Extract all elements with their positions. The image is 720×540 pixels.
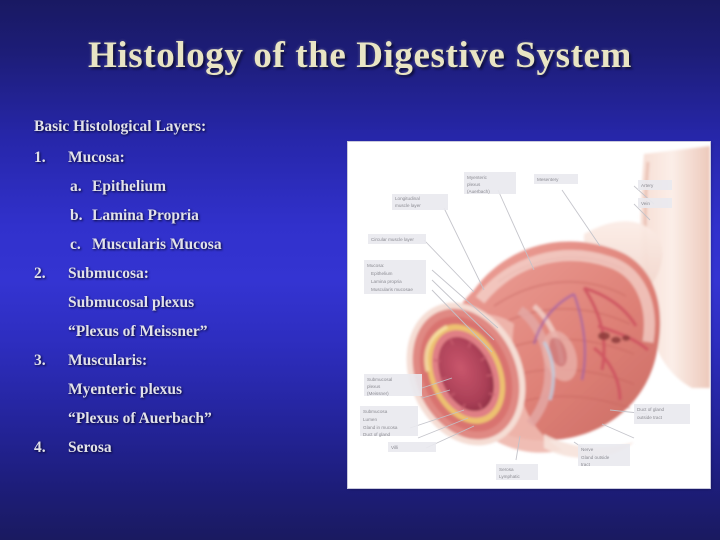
svg-text:Mucosa:: Mucosa:: [367, 263, 384, 268]
list-item: a. Epithelium: [34, 178, 334, 207]
svg-text:(Auerbach): (Auerbach): [467, 189, 490, 194]
svg-text:(Meissner): (Meissner): [367, 391, 389, 396]
list-item-label: Mucosa:: [68, 149, 125, 167]
list-item: Myenteric plexus: [34, 381, 334, 410]
figure-label: Vein: [638, 198, 672, 208]
figure-label: Duct of gland outside tract: [634, 404, 690, 424]
list-item: b. Lamina Propria: [34, 207, 334, 236]
figure-label: Mucosa: Epithelium Lamina propria Muscul…: [364, 260, 426, 294]
svg-text:Duct of gland: Duct of gland: [637, 407, 665, 412]
list-item-label: Submucosa:: [68, 265, 149, 283]
figure-label: Submucosal plexus (Meissner): [364, 374, 422, 396]
svg-text:Artery: Artery: [641, 183, 654, 188]
list-item: 3. Muscularis:: [34, 352, 334, 381]
page-title: Histology of the Digestive System: [0, 34, 720, 77]
list-heading-label: Basic Histological Layers:: [34, 118, 206, 136]
svg-text:Gland in mucosa: Gland in mucosa: [363, 425, 398, 430]
svg-text:Lumen: Lumen: [363, 417, 377, 422]
figure-label: Myenteric plexus (Auerbach): [464, 172, 516, 194]
svg-text:Lymphatic: Lymphatic: [499, 474, 520, 479]
svg-text:Submucosa: Submucosa: [363, 409, 388, 414]
figure-label: Mesentery: [534, 174, 578, 184]
figure-label: Circular muscle layer: [368, 234, 426, 244]
list-item: 2. Submucosa:: [34, 265, 334, 294]
list-item-label: Lamina Propria: [92, 207, 199, 225]
figure-label: Artery: [638, 180, 672, 190]
list-item-label: Submucosal plexus: [68, 294, 194, 312]
figure-label: Submucosa Lumen Gland in mucosa Duct of …: [360, 406, 418, 437]
list-item-label: Muscularis:: [68, 352, 147, 370]
svg-text:Serosa: Serosa: [499, 467, 514, 472]
svg-text:plexus: plexus: [467, 182, 481, 187]
figure-panel: Longitudinal muscle layer Myenteric plex…: [348, 142, 710, 488]
content-list: Basic Histological Layers: 1. Mucosa: a.…: [34, 118, 334, 468]
svg-text:Nerve: Nerve: [581, 447, 594, 452]
gi-tract-wall-illustration: Longitudinal muscle layer Myenteric plex…: [348, 142, 710, 488]
list-item: c. Muscularis Mucosa: [34, 236, 334, 265]
svg-text:Vein: Vein: [641, 201, 650, 206]
svg-text:Circular muscle layer: Circular muscle layer: [371, 237, 414, 242]
svg-text:Longitudinal: Longitudinal: [395, 196, 420, 201]
list-item-marker: 1.: [34, 149, 68, 167]
list-item-marker: b.: [70, 207, 92, 225]
svg-text:muscle layer: muscle layer: [395, 203, 421, 208]
list-item-label: Serosa: [68, 439, 112, 457]
svg-text:Epithelium: Epithelium: [371, 271, 393, 276]
list-item-label: Epithelium: [92, 178, 166, 196]
list-item-label: “Plexus of Auerbach”: [68, 410, 212, 428]
svg-text:Submucosal: Submucosal: [367, 377, 392, 382]
list-item: 1. Mucosa:: [34, 149, 334, 178]
list-item-marker: c.: [70, 236, 92, 254]
svg-text:Duct of gland: Duct of gland: [363, 432, 391, 437]
svg-text:Mesentery: Mesentery: [537, 177, 559, 182]
svg-text:Muscularis mucosae: Muscularis mucosae: [371, 287, 413, 292]
list-item-label: Muscularis Mucosa: [92, 236, 222, 254]
svg-text:plexus: plexus: [367, 384, 381, 389]
svg-text:outside tract: outside tract: [637, 415, 663, 420]
list-item-label: Myenteric plexus: [68, 381, 182, 399]
list-item: 4. Serosa: [34, 439, 334, 468]
list-item-marker: 2.: [34, 265, 68, 283]
svg-text:tract: tract: [581, 462, 591, 467]
svg-text:Myenteric: Myenteric: [467, 175, 488, 180]
presentation-slide: Histology of the Digestive System Basic …: [0, 0, 720, 540]
svg-text:Villi: Villi: [391, 445, 398, 450]
svg-text:Gland outside: Gland outside: [581, 455, 610, 460]
list-item: “Plexus of Meissner”: [34, 323, 334, 352]
list-item-label: “Plexus of Meissner”: [68, 323, 207, 341]
svg-text:Lamina propria: Lamina propria: [371, 279, 402, 284]
list-item-marker: 3.: [34, 352, 68, 370]
list-heading: Basic Histological Layers:: [34, 118, 334, 147]
list-item-marker: a.: [70, 178, 92, 196]
figure-label: Nerve Gland outside tract: [578, 444, 630, 467]
figure-label: Longitudinal muscle layer: [392, 194, 448, 210]
figure-label: Serosa Lymphatic: [496, 464, 538, 480]
figure-label: Villi: [388, 442, 436, 452]
list-item: Submucosal plexus: [34, 294, 334, 323]
list-item-marker: 4.: [34, 439, 68, 457]
list-item: “Plexus of Auerbach”: [34, 410, 334, 439]
